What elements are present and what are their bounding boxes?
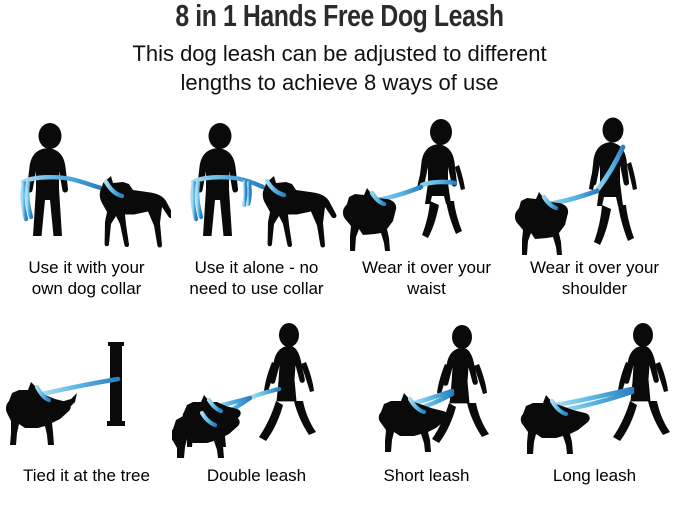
subtitle-line-2: lengths to achieve 8 ways of use bbox=[0, 68, 679, 97]
post-shape bbox=[107, 342, 125, 426]
caption-line-2: shoulder bbox=[562, 279, 627, 298]
caption-line-2: waist bbox=[407, 279, 446, 298]
panel-4-caption: Wear it over your shoulder bbox=[510, 257, 679, 299]
caption-line-1: Double leash bbox=[207, 466, 306, 485]
panel-1: Use it with your own dog collar bbox=[2, 110, 171, 315]
infographic-page: 8 in 1 Hands Free Dog Leash This dog lea… bbox=[0, 0, 679, 520]
person-walking-leash-across-shoulder-icon bbox=[510, 110, 679, 255]
person-walking-dog-long-leash-icon bbox=[510, 315, 679, 460]
person-walking-dog-short-leash-icon bbox=[342, 315, 511, 460]
panel-1-caption: Use it with your own dog collar bbox=[2, 257, 171, 299]
dog-tied-to-post-icon bbox=[2, 315, 171, 460]
caption-line-1: Long leash bbox=[553, 466, 636, 485]
caption-line-2: own dog collar bbox=[32, 279, 142, 298]
panel-3: Wear it over your waist bbox=[342, 110, 511, 315]
panel-8-caption: Long leash bbox=[510, 465, 679, 486]
person-walking-leash-around-waist-icon bbox=[342, 110, 511, 255]
panel-8: Long leash bbox=[510, 315, 679, 520]
panel-5-caption: Tied it at the tree bbox=[2, 465, 171, 486]
caption-line-1: Short leash bbox=[384, 466, 470, 485]
caption-line-2: need to use collar bbox=[189, 279, 323, 298]
panel-5: Tied it at the tree bbox=[2, 315, 171, 520]
panel-4: Wear it over your shoulder bbox=[510, 110, 679, 315]
caption-line-1: Wear it over your bbox=[362, 258, 491, 277]
caption-line-1: Use it alone - no bbox=[195, 258, 319, 277]
panel-6-caption: Double leash bbox=[172, 465, 341, 486]
panel-6: Double leash bbox=[172, 315, 341, 520]
subtitle-line-1: This dog leash can be adjusted to differ… bbox=[0, 39, 679, 68]
panel-row-1: Use it with your own dog collar bbox=[0, 110, 679, 315]
person-walking-two-dogs-double-leash-icon bbox=[172, 315, 341, 460]
caption-line-1: Tied it at the tree bbox=[23, 466, 150, 485]
panel-2-caption: Use it alone - no need to use collar bbox=[172, 257, 341, 299]
caption-line-1: Wear it over your bbox=[530, 258, 659, 277]
page-subtitle: This dog leash can be adjusted to differ… bbox=[0, 39, 679, 97]
page-title: 8 in 1 Hands Free Dog Leash bbox=[68, 0, 611, 33]
panel-row-2: Tied it at the tree bbox=[0, 315, 679, 520]
panel-7: Short leash bbox=[342, 315, 511, 520]
panel-3-caption: Wear it over your waist bbox=[342, 257, 511, 299]
panel-grid: Use it with your own dog collar bbox=[0, 110, 679, 520]
panel-2: Use it alone - no need to use collar bbox=[172, 110, 341, 315]
panel-7-caption: Short leash bbox=[342, 465, 511, 486]
person-standing-with-dog-on-slip-lead-icon bbox=[172, 110, 341, 255]
person-standing-with-dog-on-collar-leash-icon bbox=[2, 110, 171, 255]
caption-line-1: Use it with your bbox=[28, 258, 144, 277]
